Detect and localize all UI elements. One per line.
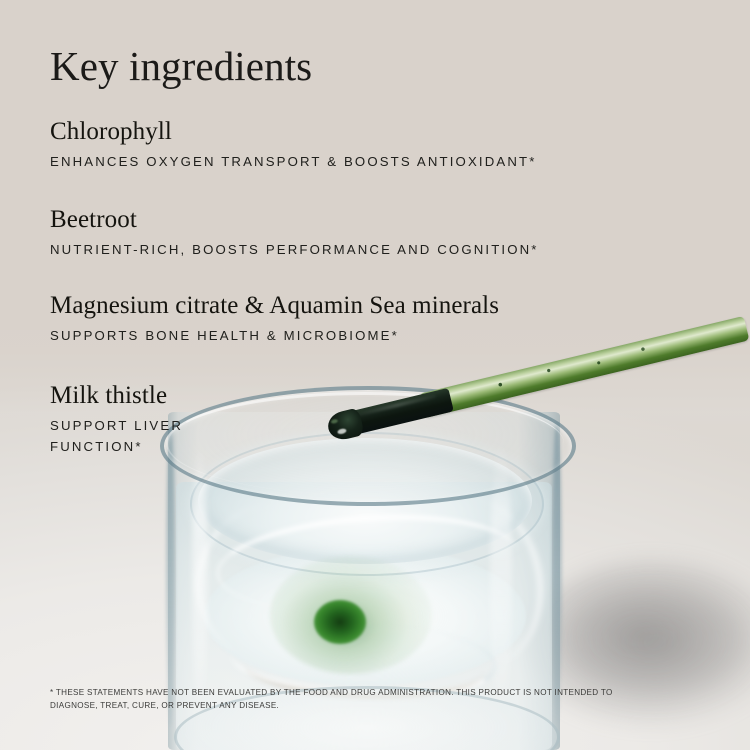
ingredient-item-chlorophyll: Chlorophyll ENHANCES OXYGEN TRANSPORT & … <box>50 118 537 172</box>
ingredient-item-milk-thistle: Milk thistle SUPPORT LIVER FUNCTION* <box>50 382 183 458</box>
ingredient-item-beetroot: Beetroot NUTRIENT-RICH, BOOSTS PERFORMAN… <box>50 206 539 260</box>
fda-disclaimer: * THESE STATEMENTS HAVE NOT BEEN EVALUAT… <box>50 686 722 713</box>
ingredient-description: SUPPORTS BONE HEALTH & MICROBIOME* <box>50 325 499 346</box>
ingredient-name: Magnesium citrate & Aquamin Sea minerals <box>50 292 499 320</box>
ingredients-page: Key ingredients Chlorophyll ENHANCES OXY… <box>0 0 750 750</box>
page-title: Key ingredients <box>50 44 312 89</box>
ingredient-name: Milk thistle <box>50 382 183 410</box>
ingredient-description: NUTRIENT-RICH, BOOSTS PERFORMANCE AND CO… <box>50 239 539 260</box>
ingredient-description: ENHANCES OXYGEN TRANSPORT & BOOSTS ANTIO… <box>50 151 537 172</box>
ingredient-description: SUPPORT LIVER FUNCTION* <box>50 415 183 458</box>
text-content: Key ingredients Chlorophyll ENHANCES OXY… <box>0 0 750 750</box>
ingredient-name: Beetroot <box>50 206 539 234</box>
ingredient-item-magnesium-citrate-aquamin: Magnesium citrate & Aquamin Sea minerals… <box>50 292 499 346</box>
ingredient-name: Chlorophyll <box>50 118 537 146</box>
